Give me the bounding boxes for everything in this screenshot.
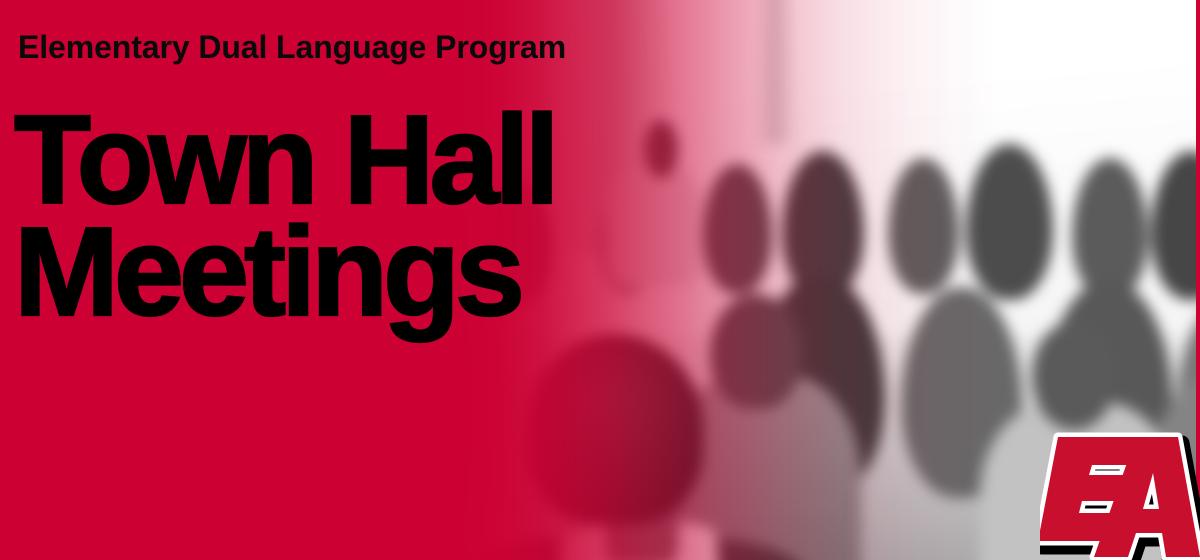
ea-logo: [1040, 425, 1200, 560]
ea-logo-icon: [1040, 425, 1200, 560]
page-title: Town Hall Meetings: [14, 104, 555, 328]
ea-logo-letters: [1040, 437, 1200, 557]
crowd-figure-right-head: [1032, 321, 1116, 430]
banner: Elementary Dual Language Program Town Ha…: [0, 0, 1200, 560]
program-eyebrow: Elementary Dual Language Program: [18, 29, 566, 66]
headline-block: Elementary Dual Language Program Town Ha…: [18, 0, 818, 560]
crowd-figure-far: [888, 158, 959, 294]
